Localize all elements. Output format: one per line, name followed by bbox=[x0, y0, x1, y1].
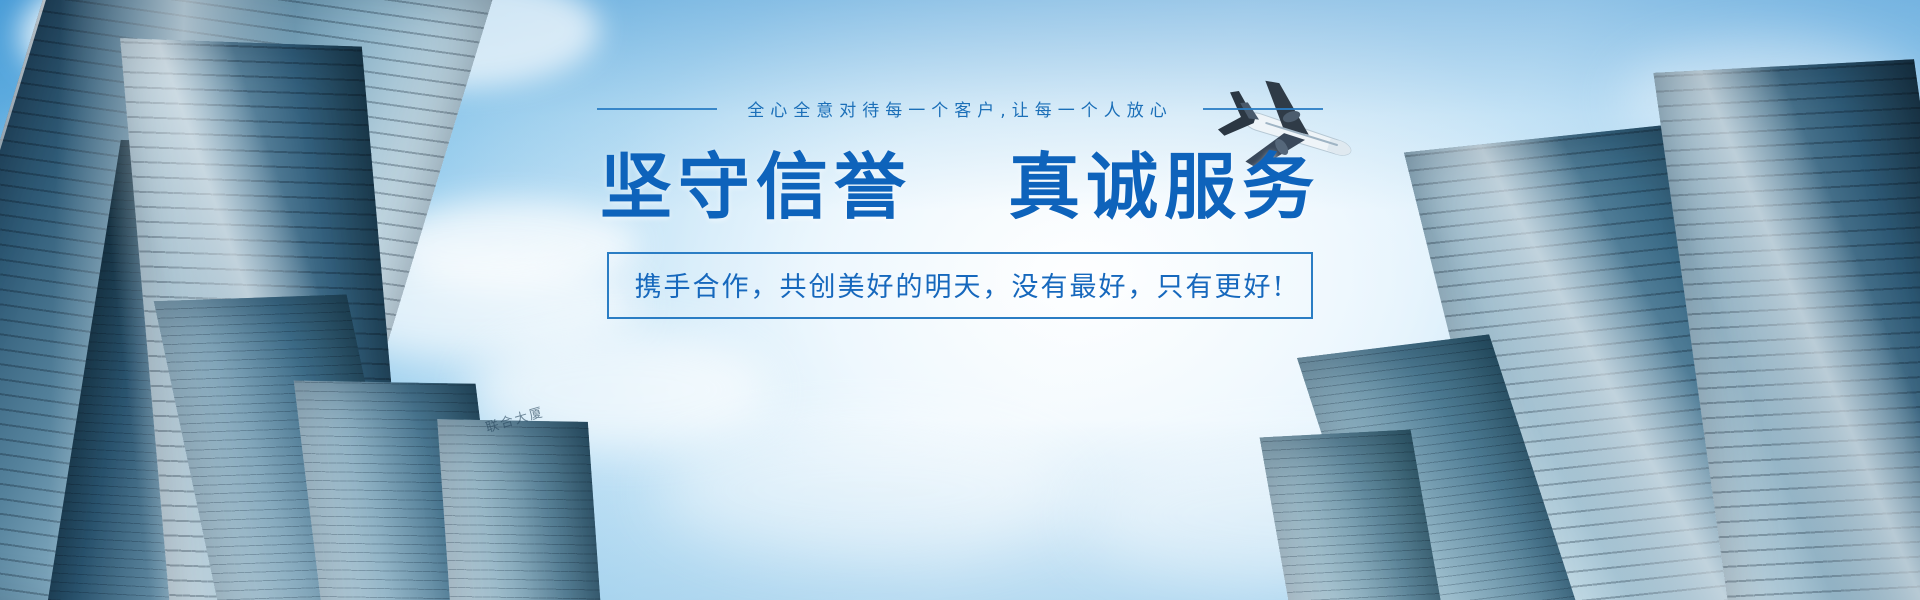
banner-text-content: 全心全意对待每一个客户,让每一个人放心 坚守信誉 真诚服务 携手合作，共创美好的… bbox=[0, 96, 1920, 319]
skyscraper-center-low bbox=[437, 419, 605, 600]
banner-tagline: 全心全意对待每一个客户,让每一个人放心 bbox=[747, 96, 1172, 121]
banner-subtitle: 携手合作，共创美好的明天，没有最好，只有更好! bbox=[607, 252, 1314, 319]
glass-facade-pattern bbox=[437, 419, 605, 600]
headline-part-right: 真诚服务 bbox=[1008, 144, 1320, 229]
hero-banner: 联合大厦 全心全意对待每一个客户,让每一个人放心 bbox=[0, 0, 1920, 600]
headline-part-left: 坚守信誉 bbox=[600, 144, 912, 229]
tagline-row: 全心全意对待每一个客户,让每一个人放心 bbox=[0, 96, 1920, 121]
decorative-rule-left-icon bbox=[597, 108, 717, 110]
banner-headline: 坚守信誉 真诚服务 bbox=[0, 147, 1920, 228]
subtitle-wrapper: 携手合作，共创美好的明天，没有最好，只有更好! bbox=[0, 252, 1920, 319]
decorative-rule-right-icon bbox=[1203, 108, 1323, 110]
